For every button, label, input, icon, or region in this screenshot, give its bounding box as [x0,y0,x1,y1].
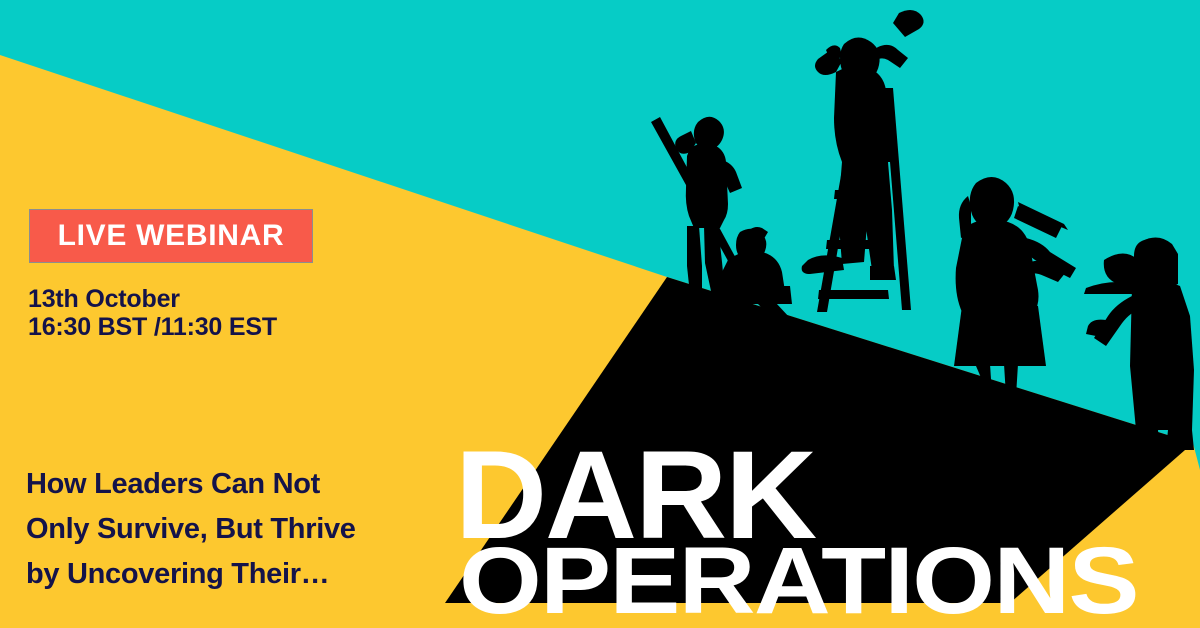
live-webinar-badge[interactable]: LIVE WEBINAR [29,209,313,263]
background-artwork [0,0,1200,628]
webinar-promo-poster: LIVE WEBINAR 13th October 16:30 BST /11:… [0,0,1200,628]
